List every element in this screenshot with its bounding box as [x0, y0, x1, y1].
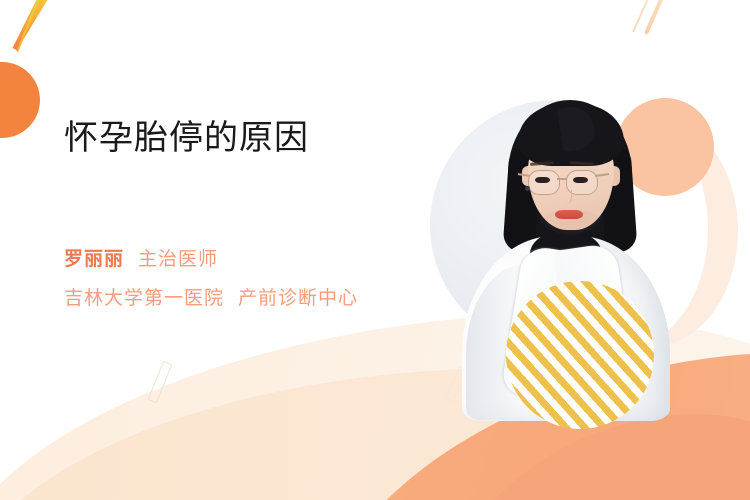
affiliation-hospital: 吉林大学第一医院 [64, 288, 224, 309]
doctor-name: 罗丽丽 [64, 249, 124, 270]
doctor-affiliation: 吉林大学第一医院产前诊断中心 [64, 289, 358, 310]
page-title: 怀孕胎停的原因 [64, 118, 309, 158]
doctor-intro-slide: 怀孕胎停的原因 罗丽丽主治医师 吉林大学第一医院产前诊断中心 [0, 0, 750, 500]
top-right-stroke-b [632, 0, 652, 33]
affiliation-department: 产前诊断中心 [238, 288, 358, 309]
eye-right [573, 177, 588, 183]
doctor-portrait [418, 76, 750, 426]
orange-circle-decoration [0, 62, 40, 138]
doctor-byline: 罗丽丽主治医师 [64, 250, 218, 271]
top-right-stroke-a [644, 0, 668, 35]
top-left-yellow-stroke [16, 0, 43, 52]
outline-stroke-decoration [147, 361, 172, 404]
earring [525, 186, 530, 191]
glasses-bridge [557, 178, 567, 180]
eye-left [535, 177, 550, 183]
top-left-orange-stroke [11, 0, 55, 52]
lips [555, 210, 583, 219]
yellow-striped-circle [506, 281, 654, 429]
doctor-rank: 主治医师 [138, 249, 218, 270]
